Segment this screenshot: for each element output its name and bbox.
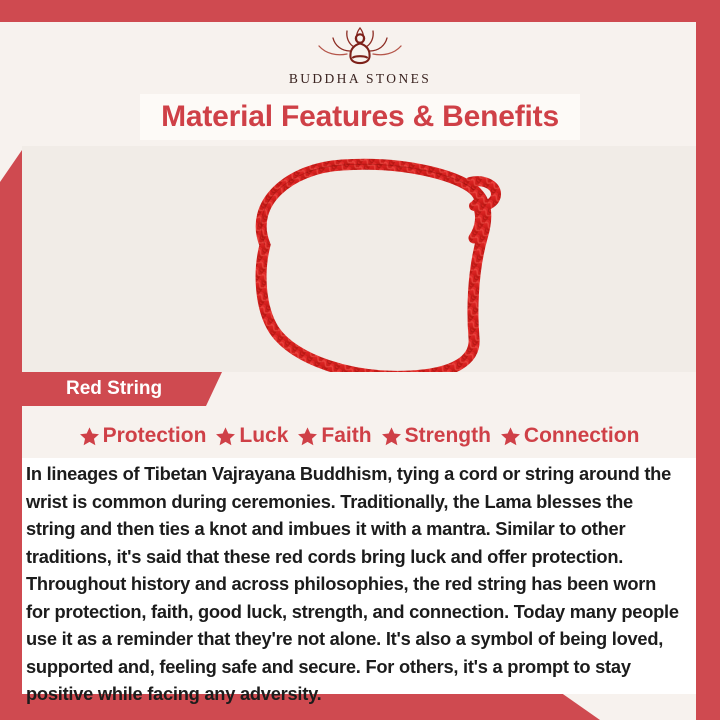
benefit-faith: Faith	[297, 424, 371, 448]
star-icon	[381, 426, 402, 447]
benefit-strength: Strength	[381, 424, 491, 448]
benefit-connection: Connection	[500, 424, 640, 448]
frame-right-border	[696, 0, 720, 720]
brand-name: BUDDHA STONES	[289, 71, 431, 87]
description-panel: In lineages of Tibetan Vajrayana Buddhis…	[22, 458, 696, 694]
star-icon	[500, 426, 521, 447]
benefit-protection: Protection	[79, 424, 207, 448]
page-title: Material Features & Benefits	[161, 100, 559, 134]
infographic-page: BUDDHA STONES Material Features & Benefi…	[0, 0, 720, 720]
star-icon	[215, 426, 236, 447]
product-tag-banner: Red String	[22, 372, 222, 406]
benefit-label: Faith	[321, 424, 371, 448]
lotus-meditation-icon	[297, 22, 423, 70]
star-icon	[297, 426, 318, 447]
product-tag-label: Red String	[22, 378, 162, 400]
benefits-row: Protection Luck Faith Strength Connectio…	[22, 418, 696, 454]
brand-logo: BUDDHA STONES	[0, 22, 720, 92]
benefit-label: Luck	[239, 424, 288, 448]
benefit-label: Protection	[103, 424, 207, 448]
benefit-luck: Luck	[215, 424, 288, 448]
product-image-area	[22, 146, 696, 372]
description-text: In lineages of Tibetan Vajrayana Buddhis…	[26, 460, 680, 708]
benefit-label: Connection	[524, 424, 640, 448]
frame-top-border	[0, 0, 720, 22]
red-braided-string-bracelet	[22, 146, 696, 372]
frame-left-border	[0, 150, 22, 710]
star-icon	[79, 426, 100, 447]
benefit-label: Strength	[405, 424, 491, 448]
title-banner: Material Features & Benefits	[140, 94, 580, 140]
